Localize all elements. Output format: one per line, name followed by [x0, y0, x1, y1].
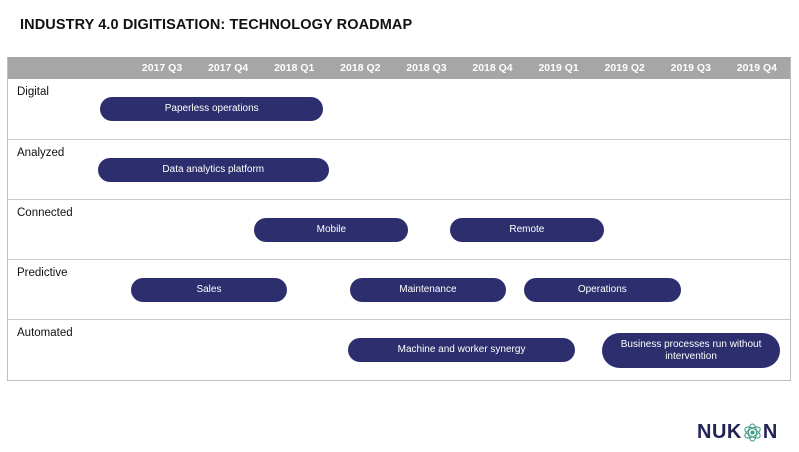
timeline-quarter: 2018 Q4	[459, 57, 525, 79]
roadmap-bar[interactable]: Maintenance	[350, 278, 506, 302]
page-title: INDUSTRY 4.0 DIGITISATION: TECHNOLOGY RO…	[20, 17, 412, 33]
roadmap-bar[interactable]: Machine and worker synergy	[348, 338, 575, 362]
roadmap-bar[interactable]: Operations	[524, 278, 680, 302]
timeline-quarter: 2017 Q3	[129, 57, 195, 79]
logo-text-after: N	[763, 422, 778, 442]
timeline-quarter: 2019 Q1	[526, 57, 592, 79]
roadmap-rows: DigitalPaperless operationsAnalyzedData …	[8, 79, 790, 381]
nukon-logo: NUK N	[697, 420, 778, 444]
roadmap-row: PredictiveSalesMaintenanceOperations	[8, 259, 790, 319]
roadmap-bar[interactable]: Business processes run without intervent…	[602, 333, 780, 368]
roadmap-bar[interactable]: Paperless operations	[100, 97, 323, 121]
roadmap-bar[interactable]: Remote	[450, 218, 604, 242]
roadmap-bar[interactable]: Data analytics platform	[98, 158, 329, 182]
row-label: Digital	[17, 86, 49, 98]
roadmap-bar[interactable]: Sales	[131, 278, 287, 302]
timeline-quarter: 2017 Q4	[195, 57, 261, 79]
timeline-quarter: 2019 Q3	[658, 57, 724, 79]
roadmap-row: AutomatedMachine and worker synergyBusin…	[8, 319, 790, 381]
timeline-quarter: 2019 Q2	[592, 57, 658, 79]
roadmap-row: AnalyzedData analytics platform	[8, 139, 790, 199]
roadmap-row: DigitalPaperless operations	[8, 79, 790, 139]
roadmap-row: ConnectedMobileRemote	[8, 199, 790, 259]
row-label: Connected	[17, 207, 73, 219]
logo-text-before: NUK	[697, 422, 742, 442]
timeline-header: 2017 Q32017 Q42018 Q12018 Q22018 Q32018 …	[8, 57, 790, 79]
atom-icon	[742, 422, 763, 443]
row-label: Predictive	[17, 267, 68, 279]
roadmap-bar[interactable]: Mobile	[254, 218, 408, 242]
timeline-quarter: 2019 Q4	[724, 57, 790, 79]
row-label: Analyzed	[17, 147, 64, 159]
timeline-quarter: 2018 Q1	[261, 57, 327, 79]
timeline-header-spacer	[8, 57, 129, 79]
timeline-quarter: 2018 Q2	[327, 57, 393, 79]
row-label: Automated	[17, 327, 73, 339]
timeline-quarter: 2018 Q3	[393, 57, 459, 79]
roadmap-table: 2017 Q32017 Q42018 Q12018 Q22018 Q32018 …	[7, 57, 791, 381]
